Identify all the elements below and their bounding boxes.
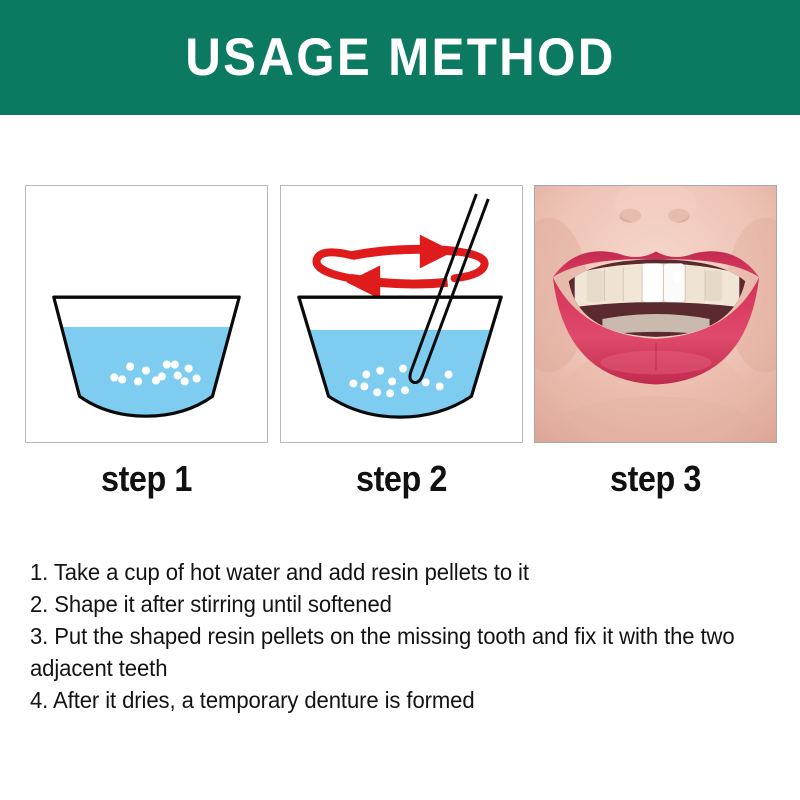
steps-illustration-row [0, 185, 800, 445]
step-2-panel [280, 185, 523, 443]
instructions-list: 1. Take a cup of hot water and add resin… [30, 556, 775, 716]
instruction-line-4: 4. After it dries, a temporary denture i… [30, 684, 745, 716]
page-title: USAGE METHOD [185, 31, 615, 84]
step-1-caption: step 1 [37, 458, 256, 500]
step-2-caption: step 2 [292, 458, 511, 500]
instruction-line-1: 1. Take a cup of hot water and add resin… [30, 556, 745, 588]
upper-teeth [575, 263, 740, 307]
step-3-panel [534, 185, 777, 443]
smiling-mouth-photo [535, 186, 776, 442]
step-captions-row: step 1 step 2 step 3 [0, 458, 800, 506]
front-tooth-right [664, 263, 685, 302]
header-banner: USAGE METHOD [0, 0, 800, 115]
instruction-line-2: 2. Shape it after stirring until softene… [30, 588, 745, 620]
bowl-stirring-icon [281, 186, 522, 442]
step-3-caption: step 3 [546, 458, 765, 500]
front-tooth-left [642, 263, 663, 302]
step-1-panel [25, 185, 268, 443]
lower-teeth [602, 314, 709, 335]
bowl-with-pellets-icon [26, 186, 267, 442]
instruction-line-3: 3. Put the shaped resin pellets on the m… [30, 620, 745, 684]
